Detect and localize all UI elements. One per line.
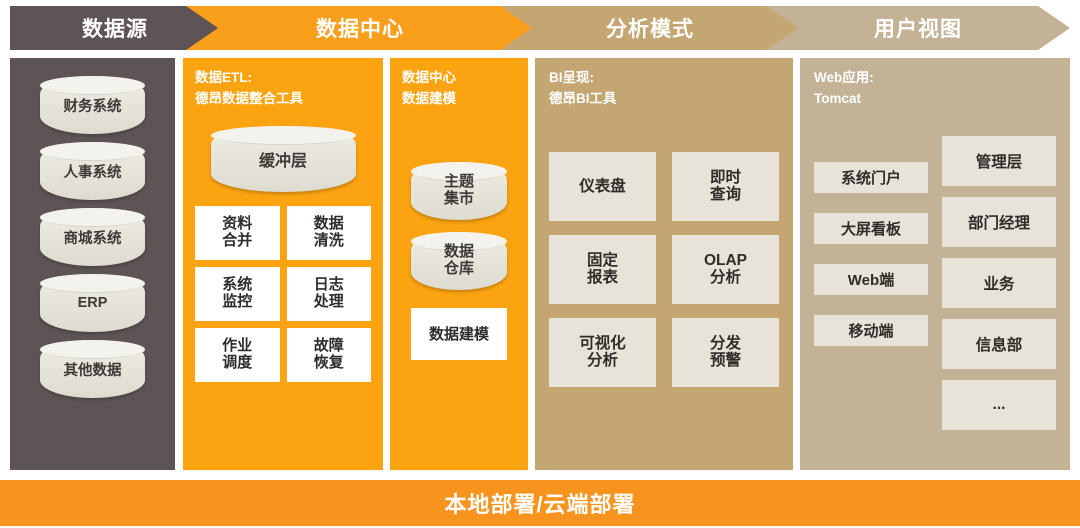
data-source-label: 其他数据 — [64, 359, 122, 380]
data-center-stack: 主题集市 数据仓库 数据建模 — [402, 162, 516, 360]
etl-module-label: 故障恢复 — [314, 338, 344, 372]
bi-module-label: 仪表盘 — [579, 178, 626, 196]
data-source-cylinder: 其他数据 — [40, 340, 145, 398]
data-source-label: 商城系统 — [64, 227, 122, 248]
data-mart-cylinder: 主题集市 — [411, 162, 507, 220]
web-role-box: 管理层 — [942, 136, 1056, 186]
stage-chevron-analysis-mode: 分析模式 — [500, 6, 800, 50]
column-title-line1: 数据ETL: — [195, 70, 252, 85]
web-role-box: 信息部 — [942, 319, 1056, 369]
data-source-label: 财务系统 — [64, 95, 122, 116]
data-source-label: ERP — [78, 295, 108, 311]
column-title-data-etl: 数据ETL: 德昂数据整合工具 — [195, 68, 371, 110]
deployment-label: 本地部署/云端部署 — [444, 487, 635, 519]
bi-module-box: 固定报表 — [549, 235, 656, 304]
etl-module-box: 故障恢复 — [287, 328, 372, 382]
web-role-label: 管理层 — [976, 150, 1023, 172]
data-mart-label: 主题集市 — [444, 174, 474, 208]
stage-banner: 数据源 数据中心 分析模式 用户视图 — [0, 6, 1080, 50]
column-title-line2: Tomcat — [814, 89, 1056, 110]
bi-module-box: 仪表盘 — [549, 152, 656, 221]
column-data-source: 财务系统 人事系统 商城系统 ERP 其他数据 — [10, 58, 175, 470]
data-modeling-label: 数据建模 — [429, 323, 489, 344]
etl-module-grid: 资料合并 数据清洗 系统监控 日志处理 作业调度 故障恢复 — [195, 206, 371, 382]
etl-module-label: 系统监控 — [222, 277, 252, 311]
deployment-footer: 本地部署/云端部署 — [0, 480, 1080, 526]
etl-module-box: 数据清洗 — [287, 206, 372, 260]
web-role-box: ... — [942, 380, 1056, 430]
data-source-list: 财务系统 人事系统 商城系统 ERP 其他数据 — [10, 58, 175, 398]
buffer-layer-cylinder: 缓冲层 — [211, 126, 356, 192]
buffer-layer-label: 缓冲层 — [259, 147, 307, 171]
data-warehouse-label: 数据仓库 — [444, 244, 474, 278]
web-role-box: 部门经理 — [942, 197, 1056, 247]
web-client-box: 移动端 — [814, 315, 928, 346]
web-role-label: 信息部 — [976, 333, 1023, 355]
architecture-diagram: 数据源 数据中心 分析模式 用户视图 财务系统 人事系统 商城系统 ERP — [0, 0, 1080, 528]
column-title-bi: BI呈现: 德昂BI工具 — [549, 68, 779, 110]
web-role-list: 管理层 部门经理 业务 信息部 ... — [942, 136, 1056, 430]
web-client-box: 系统门户 — [814, 162, 928, 193]
stage-label-analysis-mode: 分析模式 — [606, 13, 694, 44]
column-title-line1: Web应用: — [814, 70, 874, 85]
etl-module-label: 作业调度 — [222, 338, 252, 372]
stage-label-user-view: 用户视图 — [874, 13, 962, 44]
web-role-label: ... — [993, 396, 1006, 414]
column-title-line2: 德昂BI工具 — [549, 89, 779, 110]
etl-module-box: 日志处理 — [287, 267, 372, 321]
stage-label-data-source: 数据源 — [82, 13, 148, 44]
column-title-line1: BI呈现: — [549, 70, 594, 85]
stage-label-data-center: 数据中心 — [316, 13, 404, 44]
data-modeling-box: 数据建模 — [411, 308, 507, 360]
etl-module-box: 资料合并 — [195, 206, 280, 260]
data-source-cylinder: 人事系统 — [40, 142, 145, 200]
column-title-web: Web应用: Tomcat — [814, 68, 1056, 110]
bi-module-label: 固定报表 — [587, 252, 618, 287]
web-columns: 系统门户 大屏看板 Web端 移动端 管理层 部门经理 业务 信息部 ... — [814, 136, 1056, 430]
column-web-application: Web应用: Tomcat 系统门户 大屏看板 Web端 移动端 管理层 部门经… — [800, 58, 1070, 470]
etl-module-label: 资料合并 — [222, 216, 252, 250]
web-client-box: 大屏看板 — [814, 213, 928, 244]
data-source-cylinder: ERP — [40, 274, 145, 332]
bi-module-box: 即时查询 — [672, 152, 779, 221]
etl-module-label: 数据清洗 — [314, 216, 344, 250]
column-title-line2: 数据建模 — [402, 89, 516, 110]
column-data-center: 数据中心 数据建模 主题集市 数据仓库 数据建模 — [390, 58, 528, 470]
data-source-cylinder: 商城系统 — [40, 208, 145, 266]
bi-module-label: 分发预警 — [710, 335, 741, 370]
web-client-label: 移动端 — [848, 320, 893, 341]
stage-chevron-user-view: 用户视图 — [766, 6, 1070, 50]
web-client-list: 系统门户 大屏看板 Web端 移动端 — [814, 136, 928, 430]
web-role-label: 部门经理 — [968, 211, 1030, 233]
web-role-box: 业务 — [942, 258, 1056, 308]
column-title-line2: 德昂数据整合工具 — [195, 89, 371, 110]
bi-module-box: 分发预警 — [672, 318, 779, 387]
web-client-label: Web端 — [848, 269, 894, 290]
bi-module-box: OLAP分析 — [672, 235, 779, 304]
web-client-label: 大屏看板 — [841, 218, 901, 239]
stage-chevron-data-center: 数据中心 — [186, 6, 534, 50]
bi-module-box: 可视化分析 — [549, 318, 656, 387]
web-role-label: 业务 — [983, 272, 1014, 294]
data-source-cylinder: 财务系统 — [40, 76, 145, 134]
column-title-line1: 数据中心 — [402, 70, 456, 85]
etl-module-box: 作业调度 — [195, 328, 280, 382]
bi-module-label: OLAP分析 — [704, 252, 747, 287]
bi-module-label: 即时查询 — [710, 169, 741, 204]
column-data-etl: 数据ETL: 德昂数据整合工具 缓冲层 资料合并 数据清洗 系统监控 日志处理 … — [183, 58, 383, 470]
etl-module-box: 系统监控 — [195, 267, 280, 321]
web-client-label: 系统门户 — [841, 167, 901, 188]
data-warehouse-cylinder: 数据仓库 — [411, 232, 507, 290]
bi-module-label: 可视化分析 — [579, 335, 626, 370]
stage-chevron-data-source: 数据源 — [10, 6, 220, 50]
bi-module-grid: 仪表盘 即时查询 固定报表 OLAP分析 可视化分析 分发预警 — [549, 152, 779, 387]
column-title-data-center: 数据中心 数据建模 — [402, 68, 516, 110]
etl-module-label: 日志处理 — [314, 277, 344, 311]
data-source-label: 人事系统 — [64, 161, 122, 182]
web-client-box: Web端 — [814, 264, 928, 295]
column-bi: BI呈现: 德昂BI工具 仪表盘 即时查询 固定报表 OLAP分析 可视化分析 … — [535, 58, 793, 470]
